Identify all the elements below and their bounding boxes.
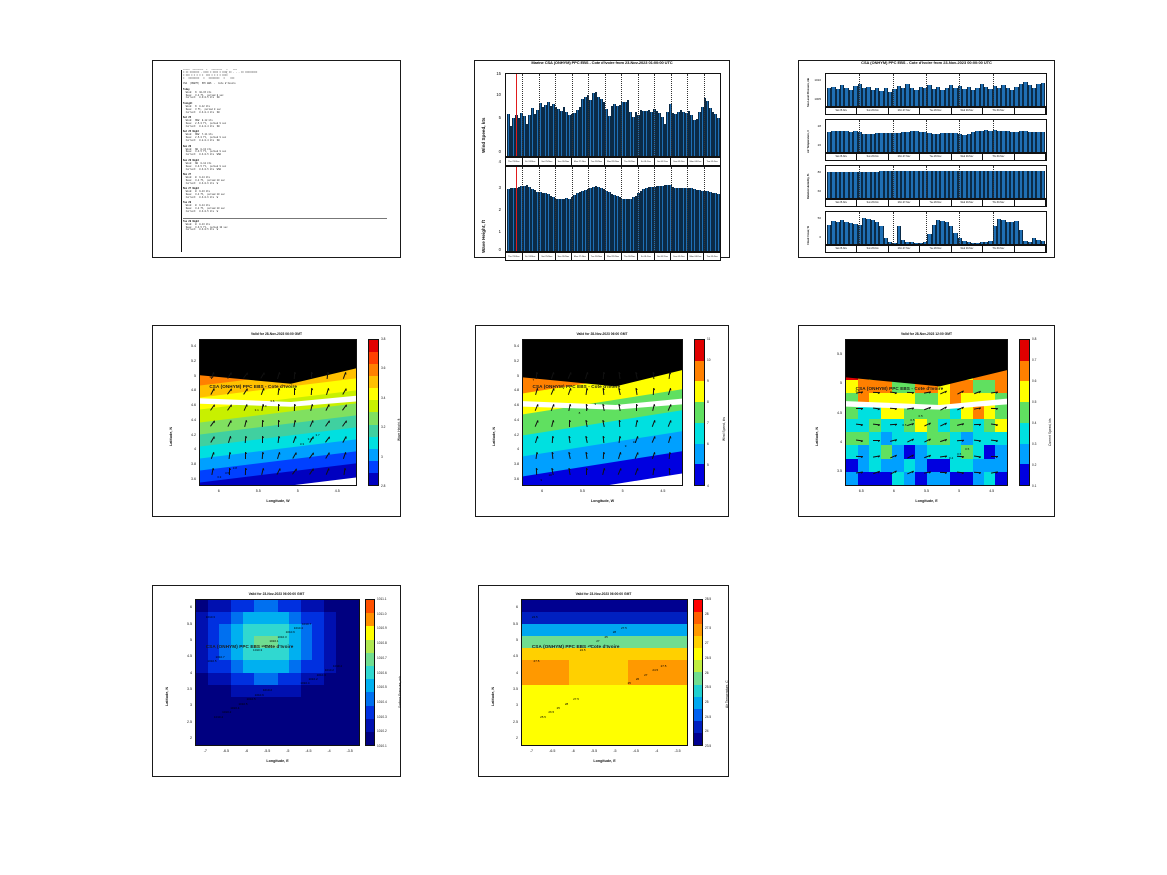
colorbar-tick: 25 <box>705 700 709 704</box>
contour-cell <box>628 709 640 722</box>
wave-colorbar-label: Wave Height, ft <box>397 419 401 441</box>
contour-cell <box>347 709 359 722</box>
grid-line <box>588 167 589 251</box>
grid-line <box>893 120 894 152</box>
contour-cell <box>628 685 640 698</box>
contour-cell <box>336 697 348 710</box>
contour-cell <box>869 472 881 486</box>
x-tick: 4.5 <box>982 489 1002 493</box>
contour-cell <box>995 432 1007 446</box>
day-label: Sun 26-Nov <box>857 246 888 252</box>
y-tick: 4.6 <box>182 403 196 407</box>
day-label: Wed 29-Nov <box>952 246 983 252</box>
forecast-report-panel: ===== ======== = ======== = ==== == ====… <box>152 60 401 258</box>
contour-cell <box>652 624 664 637</box>
contour-cell <box>557 709 569 722</box>
contour-cell <box>289 648 301 661</box>
current-map-plot: 0.50.50.40.50.50.50.60.50.5CSA (ONHYM) P… <box>845 339 1008 486</box>
contour-cell <box>336 721 348 734</box>
colorbar-swatch <box>1020 361 1029 382</box>
colorbar-tick: 5 <box>707 463 709 467</box>
air-temperature-map-panel: Valid for 23-Nov-2023 06:00:00 GMT 24.52… <box>478 585 729 777</box>
contour-cell <box>243 600 255 613</box>
contour-cell <box>881 459 893 473</box>
contour-cell <box>675 721 687 734</box>
contour-cell <box>581 600 593 613</box>
contour-cell <box>231 709 243 722</box>
contour-cell <box>557 648 569 661</box>
contour-cell <box>289 697 301 710</box>
contour-cell <box>324 709 336 722</box>
day-label: Sun 26-Nov <box>857 200 888 206</box>
met-ytick-hi-1: 28 <box>805 124 821 128</box>
contour-cell <box>278 685 290 698</box>
contour-cell <box>675 660 687 673</box>
day-label: Sun 03-Dec <box>671 253 688 260</box>
day-label: Sun 26-Nov <box>857 154 888 160</box>
contour-cell <box>254 709 266 722</box>
contour-cell <box>984 419 996 433</box>
contour-cell <box>904 472 916 486</box>
contour-cell <box>324 697 336 710</box>
contour-cell <box>984 459 996 473</box>
contour-cell <box>347 733 359 746</box>
colorbar-tick: 23.5 <box>705 744 711 748</box>
grid-line <box>687 74 688 156</box>
colorbar-tick: 27.5 <box>705 626 711 630</box>
x-tick: -5 <box>278 749 298 753</box>
vector-arrow <box>652 388 653 395</box>
bar <box>1041 241 1045 244</box>
day-label: Sat 02-Dec <box>655 253 672 260</box>
bar <box>717 194 720 251</box>
contour-cell <box>301 697 313 710</box>
day-label: Sat 25-Nov <box>539 158 556 165</box>
grid-line <box>621 167 622 251</box>
colorbar-swatch <box>694 660 702 672</box>
met-ytick-lo-1: 26 <box>805 143 821 147</box>
contour-label: 1010.4 <box>300 681 309 685</box>
y-tick: 4.2 <box>505 433 519 437</box>
contour-cell <box>846 472 858 486</box>
contour-cell <box>208 733 220 746</box>
wave-map-xlabel: Longitude, W <box>199 499 357 503</box>
contour-label: 1010.3 <box>278 635 287 639</box>
x-tick: 5.5 <box>917 489 937 493</box>
y-tick: 2 <box>504 736 518 740</box>
contour-cell <box>605 733 617 746</box>
contour-cell <box>605 685 617 698</box>
contour-cell <box>858 419 870 433</box>
contour-label: 3.1 <box>255 408 259 412</box>
contour-label: 1010.2 <box>308 677 317 681</box>
contour-cell <box>289 685 301 698</box>
contour-cell <box>301 648 313 661</box>
wave-height-map-panel: Valid for 28-Nov-2023 06:00 GMT 3.23.13.… <box>152 325 401 517</box>
contour-cell <box>312 612 324 625</box>
colorbar-swatch <box>366 666 374 679</box>
contour-cell <box>663 600 675 613</box>
contour-cell <box>522 697 534 710</box>
colorbar-swatch <box>1020 464 1029 485</box>
contour-cell <box>546 673 558 686</box>
contour-label: 3.4 <box>308 437 312 441</box>
contour-cell <box>312 648 324 661</box>
contour-cell <box>522 685 534 698</box>
vector-arrow <box>586 468 587 475</box>
contour-cell <box>522 624 534 637</box>
y-tick: 4 <box>182 447 196 451</box>
met-ytick-hi-3: 50 <box>805 216 821 220</box>
contour-label: 1010.4 <box>230 706 239 710</box>
contour-cell <box>301 600 313 613</box>
contour-cell <box>534 697 546 710</box>
colorbar-tick: 3 <box>381 455 383 459</box>
grid-line <box>926 120 927 152</box>
contour-cell <box>336 612 348 625</box>
colorbar-swatch <box>369 461 378 473</box>
y-tick: 2.5 <box>504 720 518 724</box>
grid-line <box>621 74 622 156</box>
contour-cell <box>254 733 266 746</box>
x-tick: 6 <box>209 489 229 493</box>
grid-line <box>555 74 556 156</box>
contour-cell <box>581 673 593 686</box>
grid-line <box>605 74 606 156</box>
contour-cell <box>892 445 904 459</box>
contour-label: 25 <box>605 635 608 639</box>
current-speed-map-panel: Valid for 28-Nov-2023 12:00 GMT 0.50.50.… <box>798 325 1055 517</box>
contour-cell <box>347 624 359 637</box>
contour-cell <box>593 648 605 661</box>
y-tick: 4 <box>504 671 518 675</box>
x-tick: -6.5 <box>542 749 562 753</box>
contour-cell <box>312 624 324 637</box>
contour-cell <box>605 673 617 686</box>
contour-cell <box>961 459 973 473</box>
contour-label: 27.5 <box>534 659 540 663</box>
contour-cell <box>640 733 652 746</box>
contour-cell <box>652 673 664 686</box>
day-label: Sat 25-Nov <box>826 200 857 206</box>
contour-cell <box>266 600 278 613</box>
contour-cell <box>243 685 255 698</box>
contour-cell <box>254 721 266 734</box>
contour-cell <box>312 709 324 722</box>
contour-cell <box>336 648 348 661</box>
x-tick: 5.5 <box>248 489 268 493</box>
contour-cell <box>534 600 546 613</box>
contour-cell <box>581 733 593 746</box>
contour-cell <box>546 612 558 625</box>
contour-cell <box>640 624 652 637</box>
contour-cell <box>605 709 617 722</box>
contour-cell <box>616 685 628 698</box>
contour-label: 1010.2 <box>325 668 334 672</box>
contour-cell <box>336 709 348 722</box>
wind-wave-title: Marine CSA (ONHYM) PPC EBS - Cote d'Ivoi… <box>475 60 729 65</box>
grid-line <box>605 167 606 251</box>
x-tick: -5 <box>605 749 625 753</box>
day-label: Fri 24-Nov <box>523 253 540 260</box>
colorbar-swatch <box>694 733 702 745</box>
contour-cell <box>892 472 904 486</box>
contour-cell <box>581 660 593 673</box>
contour-cell <box>569 612 581 625</box>
contour-cell <box>628 721 640 734</box>
day-label: Sat 02-Dec <box>655 158 672 165</box>
wind-ytick-15: 15 <box>487 71 501 76</box>
day-label: Wed 29-Nov <box>605 253 622 260</box>
met-day-strip-1: Sat 25-NovSun 26-NovMon 27-NovTue 28-Nov… <box>825 153 1047 161</box>
wave-ytick-0: 0 <box>487 247 501 252</box>
contour-cell <box>278 673 290 686</box>
contour-label: 28 <box>565 702 568 706</box>
contour-cell <box>569 673 581 686</box>
contour-cell <box>278 612 290 625</box>
colorbar-swatch <box>366 679 374 692</box>
contour-cell <box>546 600 558 613</box>
current-colorbar <box>1019 339 1030 486</box>
contour-cell <box>605 648 617 661</box>
current-time-marker-2 <box>516 167 517 251</box>
contour-cell <box>534 673 546 686</box>
contour-cell <box>846 419 858 433</box>
x-tick: 6.5 <box>851 489 871 493</box>
grid-line <box>522 74 523 156</box>
y-tick: 4 <box>178 671 192 675</box>
contour-cell <box>278 660 290 673</box>
grid-line <box>893 166 894 198</box>
contour-cell <box>652 636 664 649</box>
contour-cell <box>231 612 243 625</box>
wind-colorbar <box>694 339 705 486</box>
contour-cell <box>663 721 675 734</box>
day-label: Mon 27-Nov <box>889 246 920 252</box>
x-tick: -7 <box>521 749 541 753</box>
day-label: Sun 03-Dec <box>671 158 688 165</box>
grid-line <box>522 167 523 251</box>
contour-cell <box>347 697 359 710</box>
colorbar-swatch <box>1020 381 1029 402</box>
contour-cell <box>196 697 208 710</box>
contour-cell <box>278 733 290 746</box>
contour-cell <box>858 472 870 486</box>
contour-cell <box>196 673 208 686</box>
day-label: Mon 27-Nov <box>889 108 920 114</box>
contour-cell <box>278 697 290 710</box>
vector-arrow <box>278 404 279 411</box>
colorbar-tick: 3.8 <box>381 337 385 341</box>
x-tick: -5.5 <box>584 749 604 753</box>
grid-line <box>993 74 994 106</box>
y-tick: 3.6 <box>505 477 519 481</box>
colorbar-swatch <box>694 709 702 721</box>
contour-cell <box>231 721 243 734</box>
contour-cell <box>557 721 569 734</box>
y-tick: 4.2 <box>182 433 196 437</box>
contour-cell <box>593 624 605 637</box>
contour-cell <box>663 648 675 661</box>
contour-cell <box>289 612 301 625</box>
bar <box>717 118 720 156</box>
contour-label: 1010.2 <box>222 710 231 714</box>
met-day-strip-2: Sat 25-NovSun 26-NovMon 27-NovTue 28-Nov… <box>825 199 1047 207</box>
contour-cell <box>640 697 652 710</box>
contour-cell <box>219 721 231 734</box>
grid-line <box>959 120 960 152</box>
contour-cell <box>324 612 336 625</box>
y-tick: 5 <box>505 374 519 378</box>
contour-label: 8 <box>579 411 581 415</box>
contour-label: 1010.6 <box>286 630 295 634</box>
y-tick: 5 <box>504 638 518 642</box>
grid-line <box>959 74 960 106</box>
contour-cell <box>196 685 208 698</box>
colorbar-tick: 0.4 <box>1032 421 1036 425</box>
contour-cell <box>652 685 664 698</box>
contour-cell <box>324 636 336 649</box>
contour-label: 25 <box>628 681 631 685</box>
x-tick: 4.5 <box>327 489 347 493</box>
contour-cell <box>534 685 546 698</box>
report-left-rule <box>181 70 182 252</box>
contour-cell <box>640 709 652 722</box>
temp-colorbar <box>693 599 703 746</box>
contour-cell <box>652 733 664 746</box>
contour-label: 2.9 <box>262 404 266 408</box>
day-label: Mon 04-Dec <box>688 253 705 260</box>
colorbar-swatch <box>695 423 704 444</box>
contour-cell <box>336 673 348 686</box>
contour-cell <box>522 673 534 686</box>
day-label: Wed 29-Nov <box>605 158 622 165</box>
contour-cell <box>522 733 534 746</box>
day-label: Tue 28-Nov <box>589 158 606 165</box>
wave-ytick-1: 1 <box>487 229 501 234</box>
met-axes-3 <box>825 211 1047 245</box>
contour-cell <box>675 612 687 625</box>
contour-cell <box>208 624 220 637</box>
contour-cell <box>569 624 581 637</box>
contour-cell <box>652 697 664 710</box>
colorbar-tick: 0.5 <box>1032 400 1036 404</box>
colorbar-tick: 24.5 <box>705 715 711 719</box>
contour-cell <box>605 612 617 625</box>
contour-label: 0.6 <box>872 485 876 486</box>
grid-line <box>859 120 860 152</box>
grid-line <box>671 167 672 251</box>
day-label: Mon 27-Nov <box>889 154 920 160</box>
vector-arrow <box>261 420 262 427</box>
grid-line <box>588 74 589 156</box>
contour-label: 0.5 <box>918 414 922 418</box>
colorbar-tick: 3.4 <box>381 396 385 400</box>
contour-label: 26 <box>636 677 639 681</box>
vector-arrow <box>991 456 998 457</box>
contour-label: 27 <box>644 673 647 677</box>
day-label: Sun 26-Nov <box>556 158 573 165</box>
contour-cell <box>347 660 359 673</box>
met-axes-2 <box>825 165 1047 199</box>
contour-cell <box>522 721 534 734</box>
contour-cell <box>557 612 569 625</box>
wave-ytick-2: 2 <box>487 207 501 212</box>
contour-cell <box>616 721 628 734</box>
contour-cell <box>289 709 301 722</box>
contour-cell <box>984 472 996 486</box>
contour-cell <box>915 459 927 473</box>
day-label: Thu 30-Nov <box>983 108 1014 114</box>
x-tick: -6.5 <box>216 749 236 753</box>
contour-cell <box>675 697 687 710</box>
contour-cell <box>219 660 231 673</box>
vector-arrow <box>261 452 262 459</box>
contour-cell <box>208 673 220 686</box>
day-label: Tue 28-Nov <box>920 154 951 160</box>
contour-cell <box>628 648 640 661</box>
y-tick: 4 <box>828 440 842 444</box>
contour-cell <box>569 600 581 613</box>
contour-cell <box>927 419 939 433</box>
contour-label: 25.5 <box>540 715 546 719</box>
contour-cell <box>336 685 348 698</box>
colorbar-swatch <box>369 376 378 388</box>
contour-cell <box>231 733 243 746</box>
wave-colorbar <box>368 339 379 486</box>
contour-cell <box>347 600 359 613</box>
contour-cell <box>278 600 290 613</box>
contour-cell <box>208 721 220 734</box>
vector-arrow <box>602 388 604 395</box>
contour-cell <box>266 612 278 625</box>
colorbar-swatch <box>366 626 374 639</box>
colorbar-swatch <box>1020 402 1029 423</box>
contour-cell <box>196 721 208 734</box>
contour-cell <box>219 612 231 625</box>
current-time-marker <box>516 74 517 156</box>
contour-cell <box>675 673 687 686</box>
contour-cell <box>266 709 278 722</box>
colorbar-tick: 24 <box>705 729 709 733</box>
contour-cell <box>581 612 593 625</box>
contour-cell <box>336 733 348 746</box>
colorbar-swatch <box>695 381 704 402</box>
colorbar-tick: 2.8 <box>381 484 385 488</box>
contour-cell <box>628 733 640 746</box>
colorbar-swatch <box>694 721 702 733</box>
colorbar-swatch <box>369 437 378 449</box>
colorbar-tick: 4 <box>707 484 709 488</box>
contour-cell <box>243 721 255 734</box>
colorbar-tick: 1011.0 <box>377 612 387 616</box>
contour-cell <box>640 721 652 734</box>
contour-cell <box>219 600 231 613</box>
contour-cell <box>324 648 336 661</box>
contour-cell <box>336 624 348 637</box>
pressure-colorbar <box>365 599 375 746</box>
contour-label: 8 <box>587 407 589 411</box>
day-label: Fri 01-Dec <box>638 158 655 165</box>
day-label: Thu 30-Nov <box>983 154 1014 160</box>
contour-label: 9 <box>595 402 597 406</box>
contour-cell <box>347 685 359 698</box>
grid-line <box>572 167 573 251</box>
contour-cell <box>675 600 687 613</box>
x-tick: -4.5 <box>626 749 646 753</box>
grid-line <box>859 74 860 106</box>
wind-wave-timeseries-panel: Marine CSA (ONHYM) PPC EBS - Cote d'Ivoi… <box>474 60 730 258</box>
